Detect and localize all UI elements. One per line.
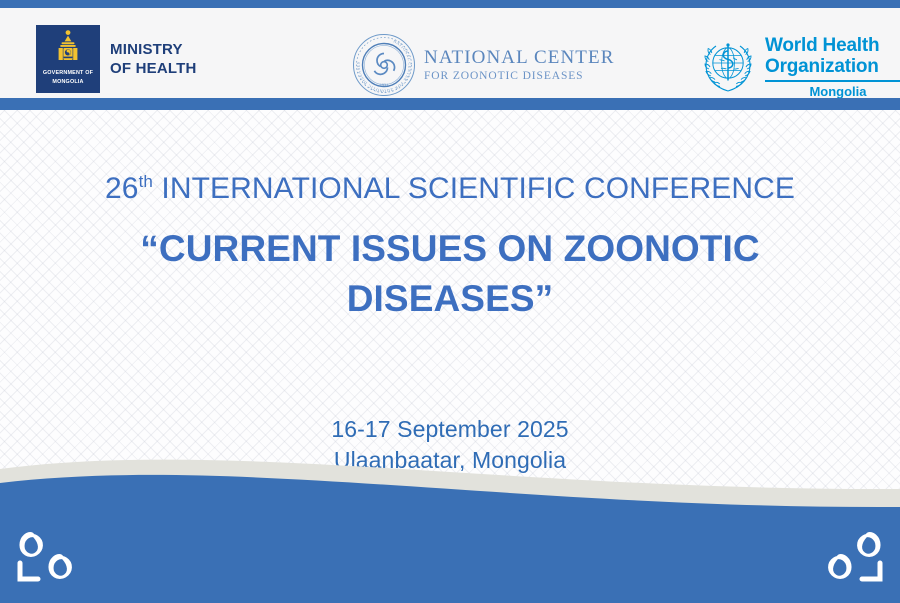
conference-number: 26 [105,172,139,205]
bottom-wave-decoration [0,453,900,603]
who-name-line-2: Organization [765,56,900,77]
ministry-name-line-1: MINISTRY [110,40,197,59]
event-date: 16-17 September 2025 [0,414,900,445]
conference-theme-line-2: DISEASES” [0,274,900,324]
top-accent-bar [0,0,900,8]
who-name-line-1: World Health [765,35,900,56]
conference-theme: “CURRENT ISSUES ON ZOONOTIC DISEASES” [0,224,900,324]
national-center-zoonotic-diseases-logo: 1931 NATIONAL CENTER FOR ZOONOTIC DISEAS… [352,20,614,110]
who-country-label: Mongolia [765,84,900,99]
conference-heading-rest: INTERNATIONAL SCIENTIFIC CONFERENCE [153,172,795,205]
who-emblem-laurel-globe-asclepius-icon [700,39,756,95]
triquetra-knot-ornament-right [806,527,886,589]
nczd-circular-seal-biohazard-icon: 1931 NATIONAL CENTER FOR ZOONOTIC DISEAS… [352,33,416,97]
ministry-of-health-logo: GOVERNMENT OF MONGOLIA MINISTRY OF HEALT… [36,14,197,104]
emblem-caption-line-2: MONGOLIA [52,79,83,86]
nczd-name-line-1: NATIONAL CENTER [424,48,614,68]
emblem-caption-line-1: GOVERNMENT OF [43,70,93,77]
mongolia-state-emblem-soyombo-icon: GOVERNMENT OF MONGOLIA [36,25,100,93]
conference-heading: 26th INTERNATIONAL SCIENTIFIC CONFERENCE [0,170,900,208]
conference-ordinal-suffix: th [139,172,153,191]
conference-theme-line-1: “CURRENT ISSUES ON ZOONOTIC [0,224,900,274]
conference-title-slide: GOVERNMENT OF MONGOLIA MINISTRY OF HEALT… [0,0,900,603]
seal-year-text: 1931 [380,83,388,88]
header-divider-bar [0,98,900,110]
ministry-name-line-2: OF HEALTH [110,59,197,78]
title-block: 26th INTERNATIONAL SCIENTIFIC CONFERENCE… [0,170,900,324]
triquetra-knot-ornament-left [14,527,94,589]
nczd-name-line-2: FOR ZOONOTIC DISEASES [424,70,614,82]
who-divider-rule [765,80,900,82]
